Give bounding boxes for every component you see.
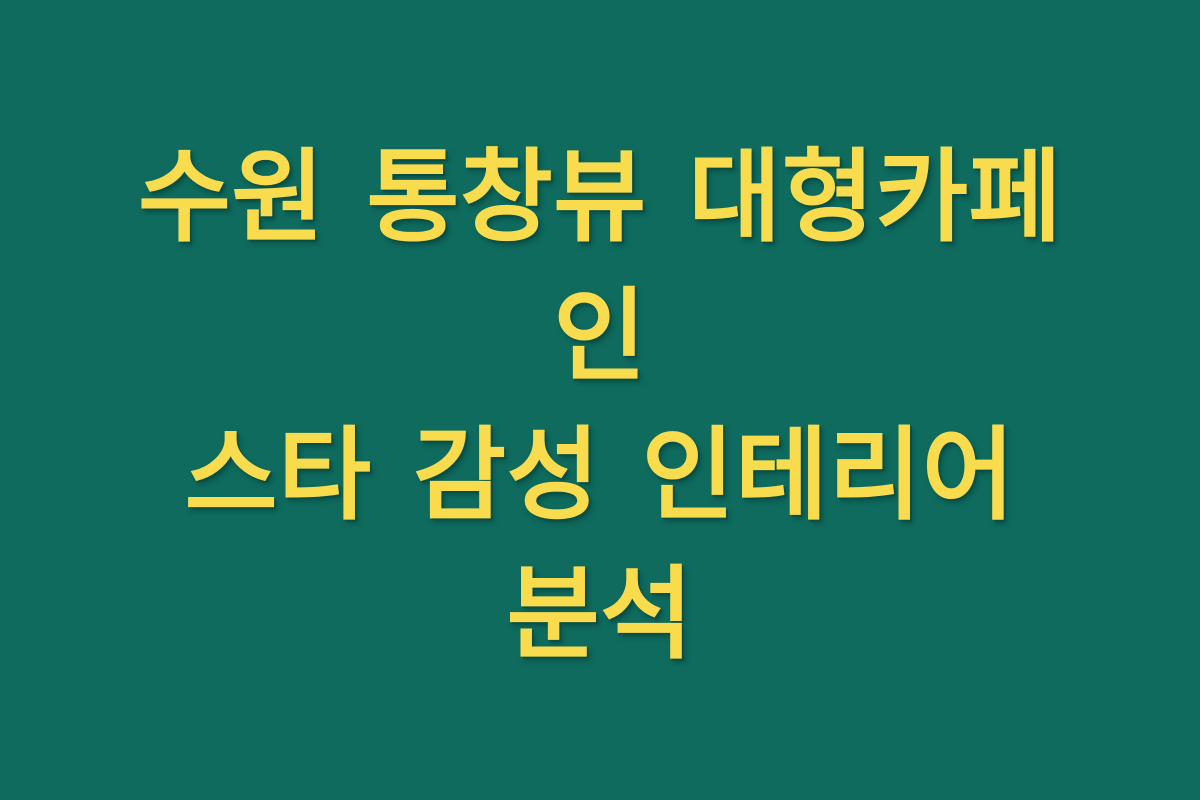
headline-block: 수원 통창뷰 대형카페 인 스타 감성 인테리어 분석 수원 통창뷰 대형카페 …	[80, 128, 1120, 684]
poster-canvas: 수원 통창뷰 대형카페 인 스타 감성 인테리어 분석 수원 통창뷰 대형카페 …	[0, 0, 1200, 800]
headline-line-2: 스타 감성 인테리어 분석	[80, 406, 1120, 684]
headline-line-1: 수원 통창뷰 대형카페 인	[80, 128, 1120, 406]
page-title: 수원 통창뷰 대형카페 인 스타 감성 인테리어 분석	[80, 128, 1120, 684]
